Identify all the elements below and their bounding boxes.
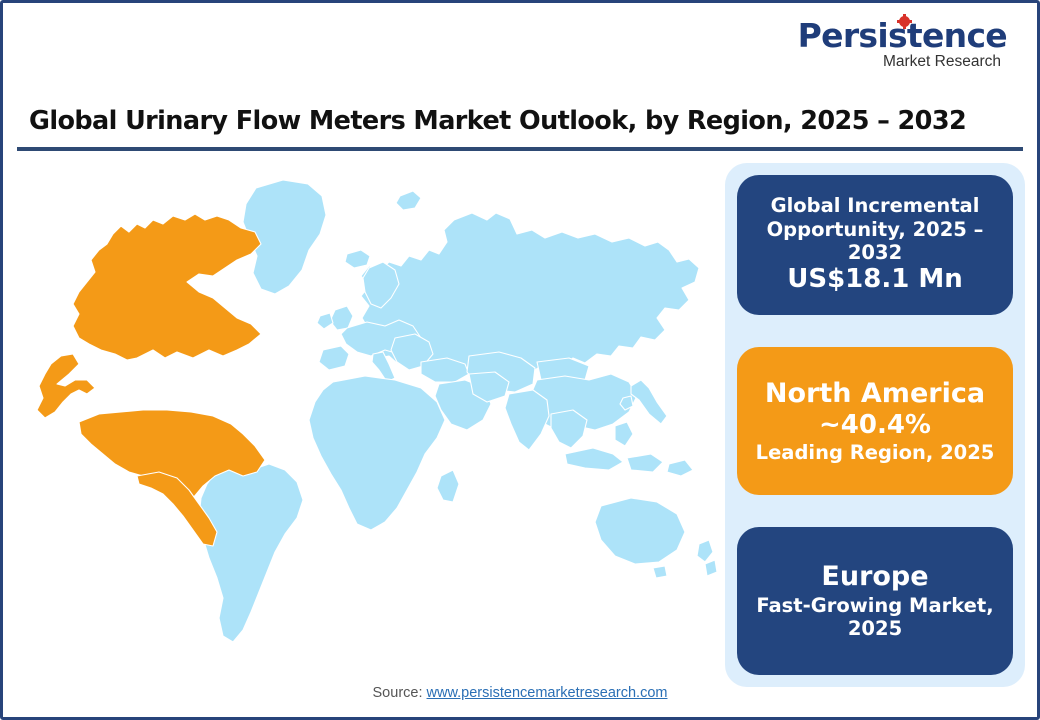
leading-region-name: North America xyxy=(765,378,985,410)
brand-logo: Persistence Market Research xyxy=(787,19,1007,70)
fast-growing-caption-line-1: Fast-Growing Market, xyxy=(756,594,993,617)
leading-region-share: ~40.4% xyxy=(819,410,931,441)
map-region-rest-of-world xyxy=(192,180,717,642)
opportunity-line-2: Opportunity, 2025 – 2032 xyxy=(751,218,999,265)
leading-region-caption: Leading Region, 2025 xyxy=(756,441,995,464)
fast-growing-region-name: Europe xyxy=(821,561,928,593)
logo-subtitle: Market Research xyxy=(787,53,1001,70)
logo-wordmark: Persistence xyxy=(798,19,1007,52)
card-global-incremental-opportunity: Global Incremental Opportunity, 2025 – 2… xyxy=(737,175,1013,315)
fast-growing-caption-line-2: 2025 xyxy=(848,617,902,640)
card-fast-growing-market: Europe Fast-Growing Market, 2025 xyxy=(737,527,1013,675)
world-map xyxy=(17,158,717,678)
title-divider xyxy=(17,147,1023,151)
highlights-panel: Global Incremental Opportunity, 2025 – 2… xyxy=(725,163,1025,687)
infographic-frame: Persistence Market Research Global Urina… xyxy=(0,0,1040,720)
opportunity-value: US$18.1 Mn xyxy=(787,264,963,295)
source-label: Source: xyxy=(373,685,423,701)
source-link[interactable]: www.persistencemarketresearch.com xyxy=(427,685,668,701)
source-note: Source: www.persistencemarketresearch.co… xyxy=(3,685,1037,701)
page-title: Global Urinary Flow Meters Market Outloo… xyxy=(29,106,966,136)
opportunity-line-1: Global Incremental xyxy=(771,194,980,217)
card-leading-region: North America ~40.4% Leading Region, 202… xyxy=(737,347,1013,495)
logo-star-dot-icon xyxy=(899,16,910,27)
